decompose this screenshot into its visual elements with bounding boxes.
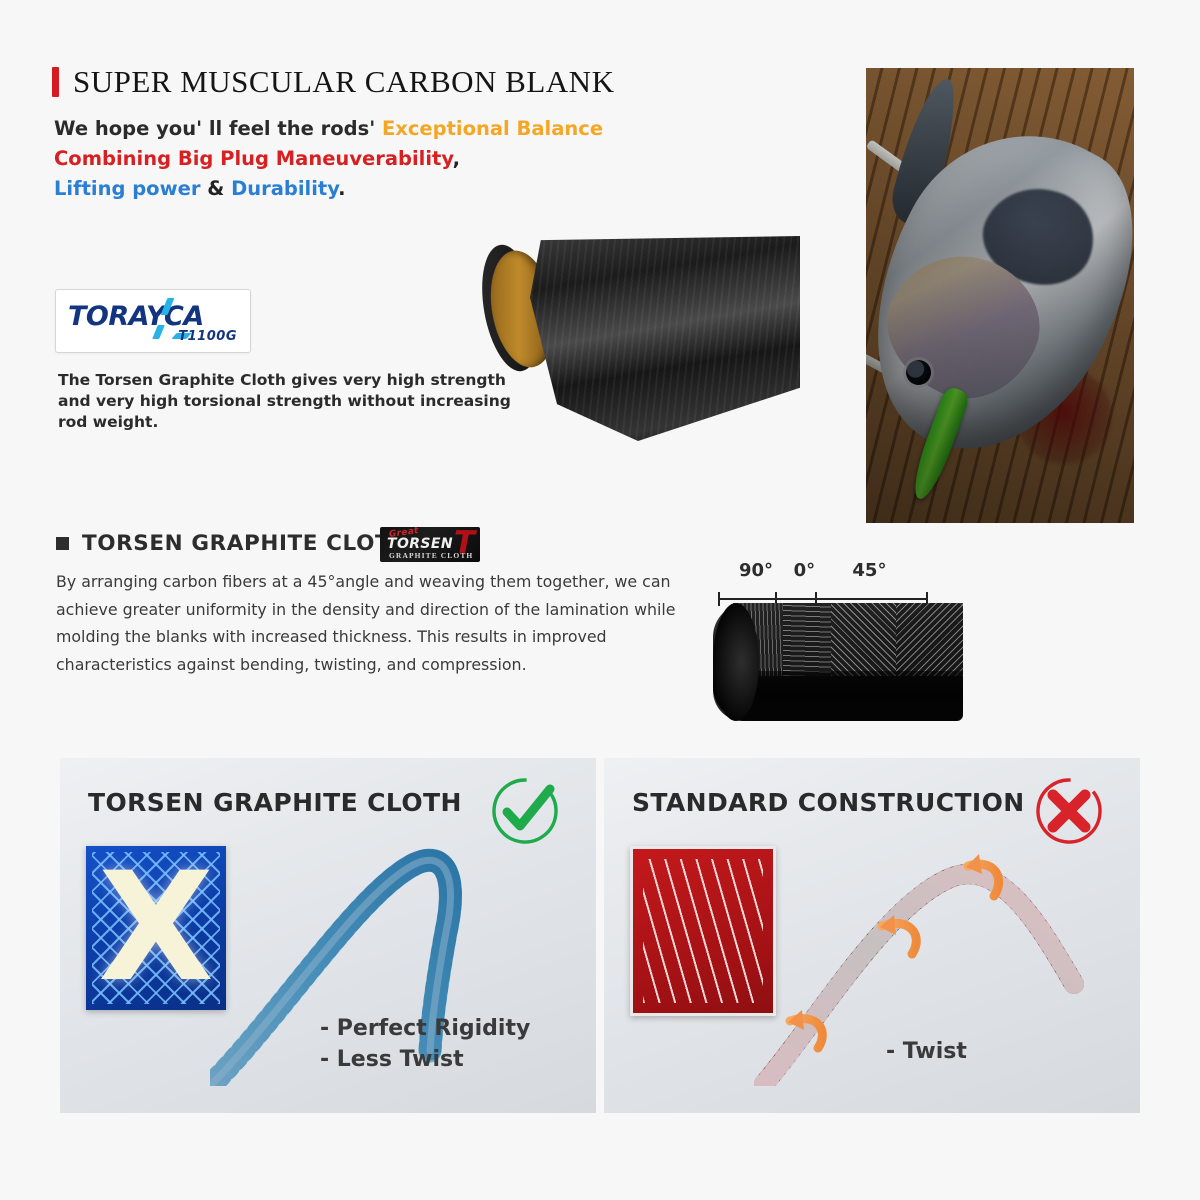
- torsen-section-heading-row: TORSEN GRAPHITE CLOTH: [56, 531, 409, 556]
- unidirectional-pattern: [643, 859, 763, 1003]
- photo-shadow-overlay: [866, 68, 1134, 523]
- comparison-panels: TORSEN GRAPHITE CLOTH X: [60, 758, 1140, 1113]
- angle-label-45: 45°: [852, 560, 886, 581]
- lede-line-2: Combining Big Plug Maneuverability,: [54, 144, 714, 174]
- lede-highlight-durability: Durability: [231, 177, 338, 200]
- torsen-badge-main: TORSEN: [387, 536, 453, 552]
- carbon-tube-image: [713, 603, 963, 721]
- square-bullet-icon: [56, 537, 69, 550]
- panel-right-title: STANDARD CONSTRUCTION: [632, 788, 1025, 817]
- torayca-logo-inner: TORAYCA T1100G: [56, 290, 250, 352]
- lede-highlight-lifting: Lifting power: [54, 177, 200, 200]
- caption-twist: - Twist: [886, 1036, 967, 1067]
- torsen-section-body: By arranging carbon fibers at a 45°angle…: [56, 568, 696, 678]
- torayca-note: The Torsen Graphite Cloth gives very hig…: [58, 370, 518, 433]
- infographic-page: SUPER MUSCULAR CARBON BLANK We hope you'…: [0, 0, 1200, 1200]
- page-title-row: SUPER MUSCULAR CARBON BLANK: [52, 64, 614, 100]
- panel-left-title: TORSEN GRAPHITE CLOTH: [88, 788, 462, 817]
- roll-sheet: [530, 236, 800, 441]
- torsen-section-heading: TORSEN GRAPHITE CLOTH: [82, 531, 409, 556]
- panel-torsen-graphite-cloth: TORSEN GRAPHITE CLOTH X: [60, 758, 596, 1113]
- x-glyph: X: [98, 853, 214, 1003]
- fiber-band-45b: [896, 603, 964, 676]
- lede-line-1: We hope you' ll feel the rods' Exception…: [54, 114, 714, 144]
- carbon-sheet-roll-image: [470, 228, 800, 460]
- angle-label-row: 90° 0° 45°: [718, 560, 928, 594]
- lede-comma: ,: [453, 147, 460, 170]
- torayca-wordmark: TORAYCA: [68, 301, 204, 332]
- lede-plain-text: We hope you' ll feel the rods': [54, 117, 375, 140]
- fiber-band-45a: [831, 603, 896, 676]
- fiber-band-0: [783, 603, 831, 676]
- woven-x-tile: X: [86, 846, 226, 1010]
- angle-label-90: 90°: [739, 560, 773, 581]
- torsen-brand-badge: T Great TORSEN GRAPHITE CLOTH: [380, 527, 480, 562]
- panel-left-captions: - Perfect Rigidity - Less Twist: [320, 1013, 530, 1075]
- lede-period: .: [338, 177, 345, 200]
- scale-line: [718, 598, 928, 600]
- lede-highlight-balance: Exceptional Balance: [382, 117, 603, 140]
- lede-highlight-maneuverability: Combining Big Plug Maneuverability: [54, 147, 453, 170]
- lede-line-3: Lifting power & Durability.: [54, 174, 714, 204]
- angle-label-0: 0°: [794, 560, 816, 581]
- page-title: SUPER MUSCULAR CARBON BLANK: [73, 64, 614, 100]
- tube-end-cap: [713, 603, 759, 721]
- torayca-grade: T1100G: [178, 329, 237, 344]
- torayca-logo: TORAYCA T1100G: [55, 289, 251, 353]
- title-accent-bar: [52, 67, 59, 97]
- panel-standard-construction: STANDARD CONSTRUCTION: [604, 758, 1140, 1113]
- caption-less-twist: - Less Twist: [320, 1044, 530, 1075]
- lede-block: We hope you' ll feel the rods' Exception…: [54, 114, 714, 204]
- lede-ampersand: &: [207, 177, 224, 200]
- tube-body: [713, 603, 963, 721]
- panel-right-captions: - Twist: [886, 1036, 967, 1067]
- torsen-badge-sub: GRAPHITE CLOTH: [389, 551, 473, 560]
- caption-perfect-rigidity: - Perfect Rigidity: [320, 1013, 530, 1044]
- tuna-photo: [866, 68, 1134, 523]
